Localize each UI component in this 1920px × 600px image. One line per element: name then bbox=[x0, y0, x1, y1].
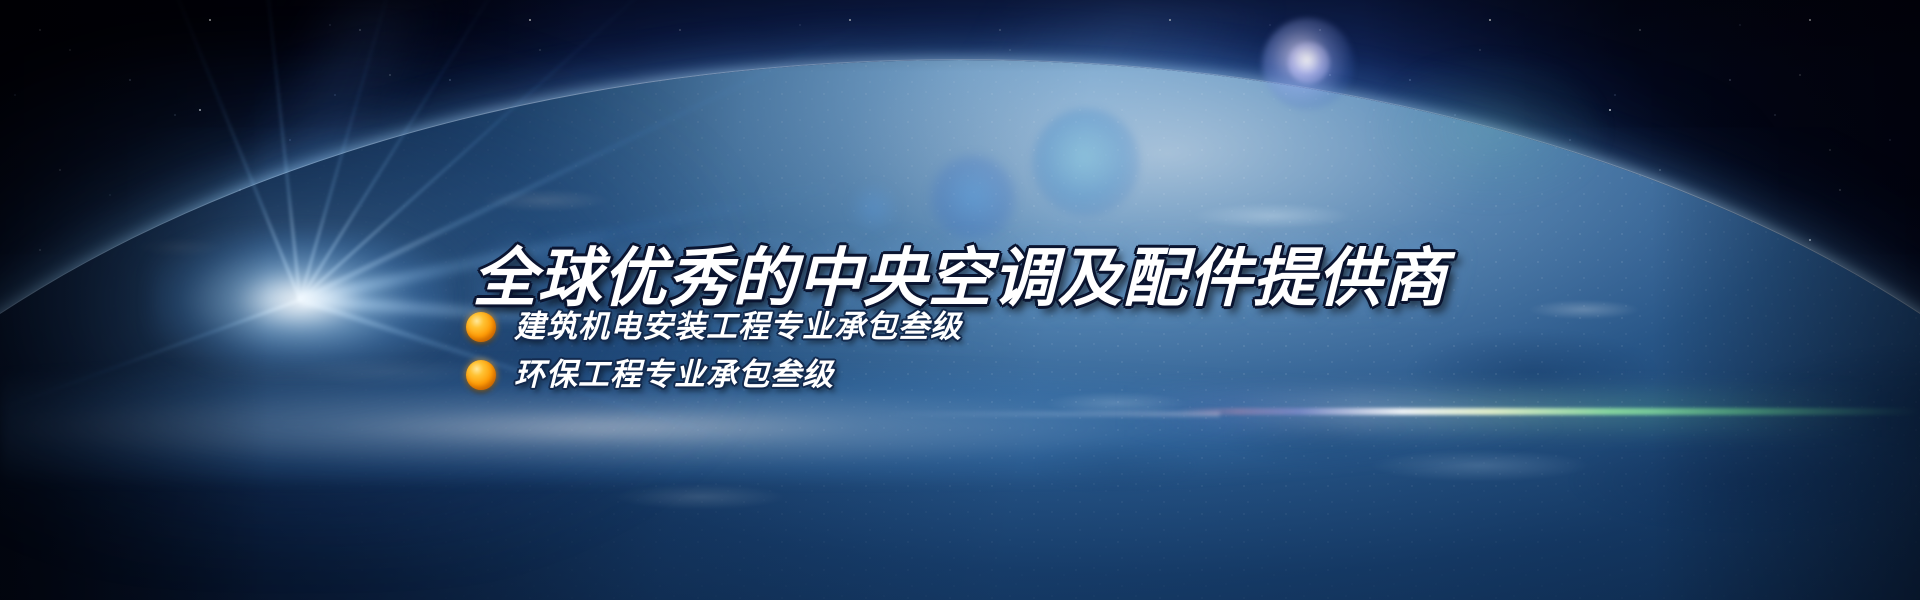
orange-sphere-bullet-icon bbox=[466, 360, 496, 390]
banner-bullet-list: 建筑机电安装工程专业承包叁级 环保工程专业承包叁级 bbox=[466, 310, 962, 392]
list-item: 建筑机电安装工程专业承包叁级 bbox=[466, 310, 962, 344]
bullet-label: 建筑机电安装工程专业承包叁级 bbox=[514, 310, 962, 344]
bullet-label: 环保工程专业承包叁级 bbox=[514, 358, 834, 392]
list-item: 环保工程专业承包叁级 bbox=[466, 358, 962, 392]
orange-sphere-bullet-icon bbox=[466, 312, 496, 342]
banner-headline: 全球优秀的中央空调及配件提供商 bbox=[0, 246, 1920, 310]
hero-banner: 全球优秀的中央空调及配件提供商 建筑机电安装工程专业承包叁级 环保工程专业承包叁… bbox=[0, 0, 1920, 600]
banner-content: 全球优秀的中央空调及配件提供商 建筑机电安装工程专业承包叁级 环保工程专业承包叁… bbox=[0, 0, 1920, 600]
